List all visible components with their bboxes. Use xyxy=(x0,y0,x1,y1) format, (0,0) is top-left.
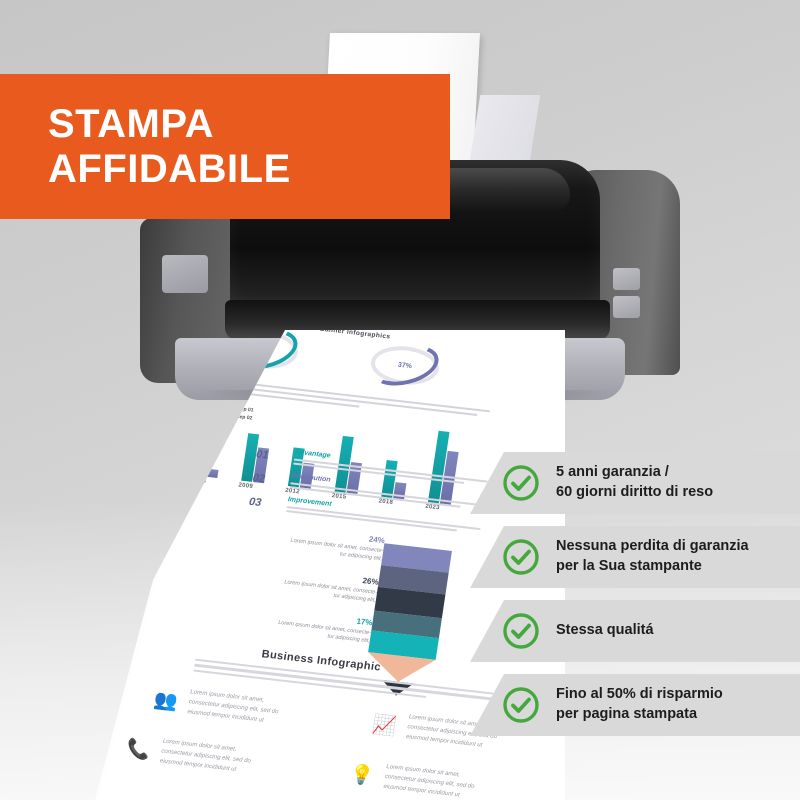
printer-panel-button-right-bottom xyxy=(613,296,640,318)
printer-panel-button-left xyxy=(162,255,208,293)
check-circle-icon xyxy=(502,686,540,724)
printer-panel-button-right-top xyxy=(613,268,640,290)
feature-label: Stessa qualitá xyxy=(556,621,654,641)
promo-banner-image: Banner Infographics 35% 37% xyxy=(0,0,800,800)
bar-step-01 xyxy=(194,461,207,476)
feature-item-3: Stessa qualitá xyxy=(470,600,800,662)
feature-item-1: 5 anni garanzia / 60 giorni diritto di r… xyxy=(470,452,800,514)
feature-label: Nessuna perdita di garanzia per la Sua s… xyxy=(556,537,749,576)
check-circle-icon xyxy=(502,464,540,502)
legend-swatch xyxy=(221,414,230,418)
feature-label: Fino al 50% di risparmio per pagina stam… xyxy=(556,685,723,724)
check-circle-icon xyxy=(502,538,540,576)
feature-label: 5 anni garanzia / 60 giorni diritto di r… xyxy=(556,463,713,502)
page-title: STAMPA AFFIDABILE xyxy=(48,102,291,192)
feature-item-2: Nessuna perdita di garanzia per la Sua s… xyxy=(470,526,800,588)
headline-banner: STAMPA AFFIDABILE xyxy=(0,74,450,219)
feature-list: 5 anni garanzia / 60 giorni diritto di r… xyxy=(470,452,800,748)
check-circle-icon xyxy=(502,612,540,650)
feature-item-4: Fino al 50% di risparmio per pagina stam… xyxy=(470,674,800,736)
